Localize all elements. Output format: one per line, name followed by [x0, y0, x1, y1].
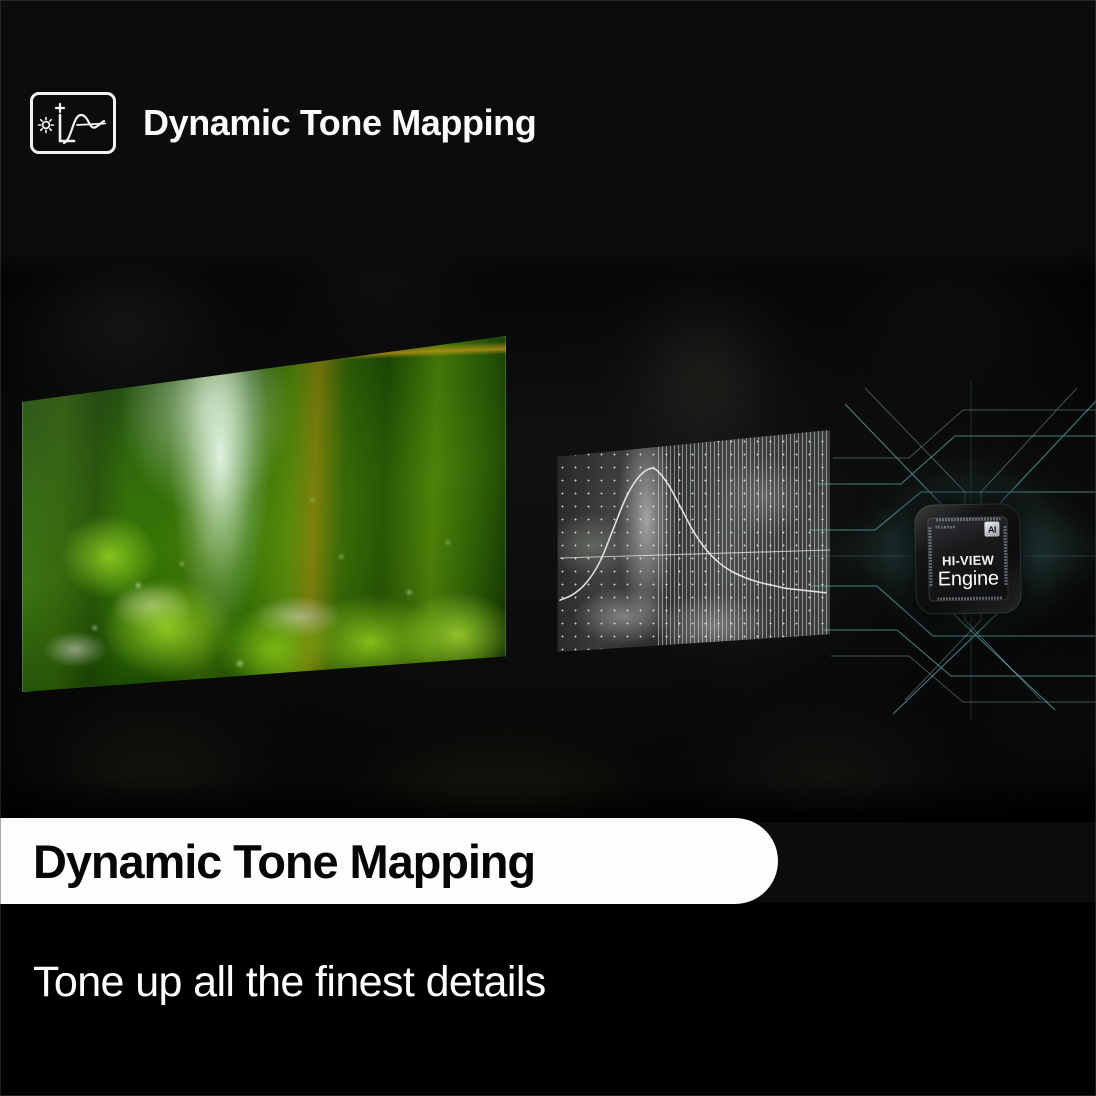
chip-title-line1: HI-VIEW	[928, 552, 1008, 568]
hero-scene: Hisense AI HI-VIEW Engine	[0, 248, 1096, 822]
tone-curve-chart	[552, 430, 830, 652]
chip-die: Hisense AI HI-VIEW Engine	[927, 516, 1008, 601]
page-title: Dynamic Tone Mapping	[143, 102, 536, 144]
chip-pins-bottom	[938, 596, 1002, 600]
tone-mapping-analysis-panel	[552, 430, 830, 652]
product-feature-card: Dynamic Tone Mapping	[0, 0, 1096, 1096]
feature-subtitle: Tone up all the finest details	[33, 958, 546, 1007]
chip-ai-badge: AI	[984, 521, 999, 536]
chip-title-line2: Engine	[928, 567, 1008, 591]
header: Dynamic Tone Mapping	[30, 92, 536, 154]
scene-bottom-matte	[0, 778, 1096, 822]
hi-view-engine-chip: Hisense AI HI-VIEW Engine	[914, 503, 1022, 615]
scene-top-matte	[0, 248, 1096, 278]
feature-banner: Dynamic Tone Mapping	[0, 818, 778, 904]
hi-view-engine-chip-area: Hisense AI HI-VIEW Engine	[845, 400, 1095, 700]
chip-brand-label: Hisense	[935, 524, 956, 529]
tone-curve-brightness-icon	[30, 92, 116, 154]
feature-banner-label: Dynamic Tone Mapping	[33, 834, 535, 889]
